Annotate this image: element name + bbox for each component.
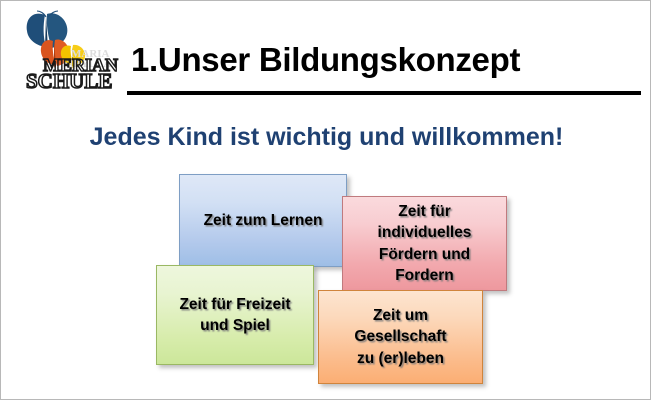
title-underline-divider	[127, 91, 641, 95]
concept-box-foerdern-line2: Fördern und Fordern	[353, 244, 496, 287]
concept-box-foerdern-line1: Zeit für individuelles	[353, 201, 496, 244]
page-title: 1.Unser Bildungskonzept	[131, 43, 643, 76]
concept-box-gesellschaft-line2: zu (er)leben	[329, 348, 472, 369]
school-logo: MARIA SIBYLLA MERIAN SCHULE	[15, 9, 123, 93]
concept-box-lernen-label: Zeit zum Lernen	[204, 210, 323, 231]
concept-box-lernen[interactable]: Zeit zum Lernen	[179, 174, 347, 267]
concept-box-freizeit[interactable]: Zeit für Freizeit und Spiel	[156, 265, 314, 365]
concept-box-gesellschaft[interactable]: Zeit um Gesellschaft zu (er)leben	[318, 290, 483, 384]
concept-box-freizeit-line1: Zeit für Freizeit	[179, 294, 290, 315]
concept-box-foerdern-label: Zeit für individuelles Fördern und Forde…	[353, 201, 496, 287]
concept-box-freizeit-label: Zeit für Freizeit und Spiel	[179, 294, 290, 337]
concept-box-foerdern[interactable]: Zeit für individuelles Fördern und Forde…	[342, 196, 507, 291]
concept-box-gesellschaft-label: Zeit um Gesellschaft zu (er)leben	[329, 305, 472, 369]
concept-box-freizeit-line2: und Spiel	[179, 315, 290, 336]
page-subtitle: Jedes Kind ist wichtig und willkommen!	[1, 124, 651, 152]
logo-text-schule: SCHULE	[26, 69, 112, 93]
slide-canvas: MARIA SIBYLLA MERIAN SCHULE 1.Unser Bild…	[0, 0, 651, 400]
concept-box-gesellschaft-line1: Zeit um Gesellschaft	[329, 305, 472, 348]
